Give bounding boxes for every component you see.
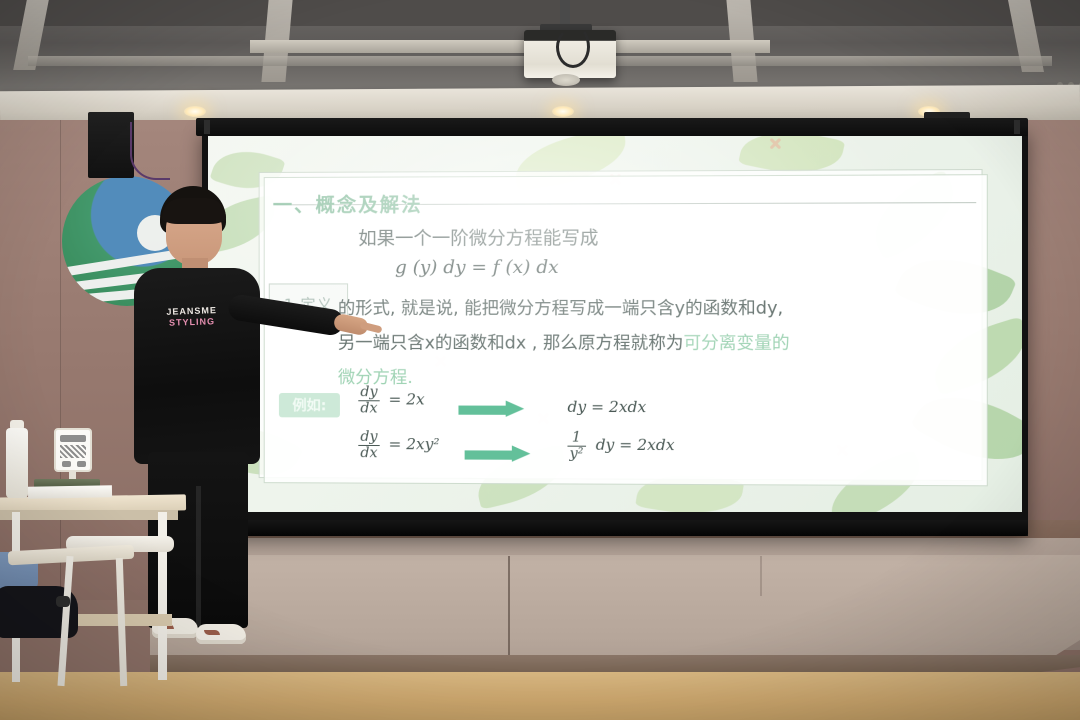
book-stack — [28, 485, 112, 498]
downlight — [184, 106, 206, 117]
ceiling-shadow-band — [0, 0, 1080, 26]
slide-body-line-3: 的形式, 就是说, 能把微分方程写成一端只含y的函数和dy, — [338, 293, 783, 319]
example-row-2: dy dx = 2xy² — [358, 430, 439, 461]
tablet-grille — [60, 445, 86, 458]
example-1-arrow-icon — [458, 403, 526, 415]
example-2-left-rhs: = 2xy² — [389, 435, 440, 453]
shirt-text-line1: JEANSME — [166, 305, 217, 317]
ceiling-rail — [250, 40, 770, 53]
speaker-cable — [130, 122, 170, 180]
example-2-left-fraction: dy dx — [358, 430, 379, 461]
example-badge: 例如: — [279, 393, 340, 417]
example-row-2-right: 1 y² dy = 2xdx — [567, 430, 674, 461]
water-bottle — [6, 428, 28, 498]
example-1-left-fraction: dy dx — [358, 385, 379, 416]
example-1-left-rhs: = 2x — [389, 390, 425, 408]
slide-body-line-4-highlight: 可分离变量的 — [683, 333, 789, 354]
projector-lens — [552, 74, 580, 86]
stage-seam — [760, 556, 762, 596]
projector-cable — [556, 26, 590, 68]
projection-screen-case — [196, 118, 1028, 136]
presenter-hair-front — [162, 198, 226, 224]
example-2-right-rhs: dy = 2xdx — [596, 436, 675, 455]
slide-title: 一、概念及解法 — [273, 190, 423, 218]
presenter-shirt-print: JEANSME STYLING — [155, 305, 228, 337]
slide-equation: g (y) dy = f (x) dx — [395, 257, 559, 279]
slide-lead-text: 如果一个一阶微分方程能写成 — [358, 224, 598, 251]
example-2-right-fraction: 1 y² — [567, 430, 585, 461]
desk-tablet — [54, 428, 92, 472]
downlight — [552, 106, 574, 117]
example-1-right: dy = 2xdx — [567, 398, 646, 417]
tablet-button[interactable] — [62, 461, 71, 467]
slide-body-line-4-a: 另一端只含x的函数和dx , 那么原方程就称为 — [338, 333, 684, 354]
tablet-button[interactable] — [77, 461, 86, 467]
wall-speaker-left — [88, 112, 134, 178]
presenter-shoe-right — [196, 624, 246, 644]
petal-decoration — [769, 137, 783, 150]
presenter: JEANSME STYLING — [108, 186, 288, 656]
tablet-screen — [60, 435, 86, 442]
slide-body-line-4: 另一端只含x的函数和dx , 那么原方程就称为可分离变量的 — [338, 328, 790, 354]
example-row-1: dy dx = 2x — [358, 385, 424, 416]
student-desk-apron — [0, 510, 178, 520]
screen-weight-bar — [202, 520, 1028, 536]
chair-adjust-knob[interactable] — [56, 596, 70, 607]
shirt-text-line2: STYLING — [169, 316, 215, 328]
classroom-scene: NITY 区 — [0, 0, 1080, 720]
presenter-leg-split — [196, 486, 201, 626]
example-2-arrow-icon — [465, 448, 533, 460]
